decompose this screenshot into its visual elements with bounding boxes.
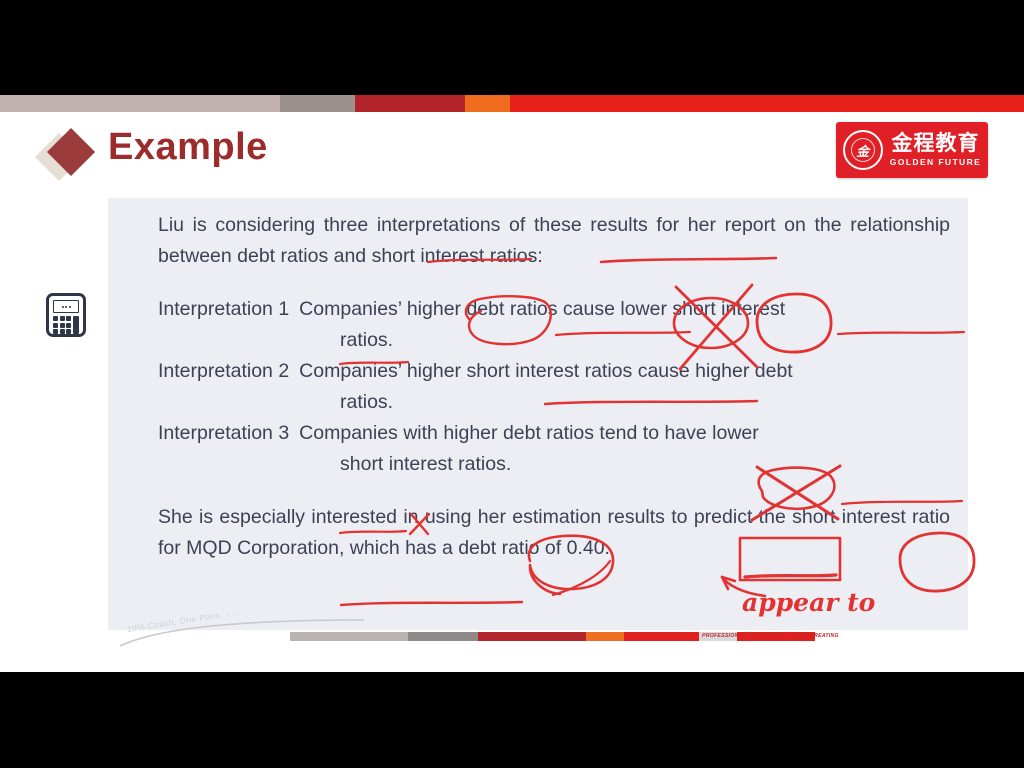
letterbox-top bbox=[0, 0, 1024, 95]
band-segment-3 bbox=[355, 95, 465, 112]
interpretation-1-line2: ratios. bbox=[158, 325, 950, 356]
slide-canvas: Example 金 金程教育 GOLDEN FUTURE bbox=[0, 95, 1024, 672]
interpretation-1-label: Interpretation 1 bbox=[158, 294, 289, 325]
intro-paragraph: Liu is considering three interpretations… bbox=[158, 210, 950, 272]
paragraph-spacer bbox=[158, 480, 950, 502]
letterbox-bottom bbox=[0, 672, 1024, 768]
footer-bar-segment-4 bbox=[586, 632, 624, 641]
interpretation-1-text: Companies’ higher debt ratios cause lowe… bbox=[299, 294, 950, 325]
calculator-key bbox=[66, 323, 71, 328]
logo-english-name: GOLDEN FUTURE bbox=[890, 158, 981, 167]
paragraph-spacer bbox=[158, 272, 950, 294]
band-segment-1 bbox=[0, 95, 280, 112]
logo-chinese-name: 金程教育 bbox=[892, 133, 980, 154]
logo-seal-mark: 金 bbox=[851, 138, 875, 162]
interpretation-2-label: Interpretation 2 bbox=[158, 356, 289, 387]
footer-bar-segment-1 bbox=[290, 632, 408, 641]
band-segment-2 bbox=[280, 95, 355, 112]
interpretation-1-line1: Interpretation 1 Companies’ higher debt … bbox=[158, 294, 950, 325]
diamond-bullet-icon bbox=[40, 130, 100, 182]
interpretation-3-line2: short interest ratios. bbox=[158, 449, 950, 480]
calculator-key bbox=[66, 329, 71, 334]
calculator-icon bbox=[46, 293, 86, 337]
calculator-key-grid bbox=[53, 316, 71, 334]
interpretation-2-line1: Interpretation 2 Companies’ higher short… bbox=[158, 356, 950, 387]
calculator-key bbox=[53, 329, 58, 334]
logo-seal-icon: 金 bbox=[843, 130, 883, 170]
calculator-enter-key bbox=[73, 316, 79, 334]
footer-color-bar: PROFESSIONAL · INNOVATIVE · VALUE CREATI… bbox=[290, 632, 815, 641]
footer-bar-segment-2 bbox=[408, 632, 478, 641]
slide-header: Example 金 金程教育 GOLDEN FUTURE bbox=[0, 112, 1024, 190]
calculator-screen-dot bbox=[65, 306, 67, 308]
calculator-keypad bbox=[53, 316, 79, 334]
brand-logo: 金 金程教育 GOLDEN FUTURE bbox=[836, 122, 988, 178]
interpretation-2-text: Companies’ higher short interest ratios … bbox=[299, 356, 950, 387]
calculator-screen bbox=[53, 300, 79, 313]
band-segment-5 bbox=[510, 95, 1024, 112]
interpretation-3-label: Interpretation 3 bbox=[158, 418, 289, 449]
logo-text-group: 金程教育 GOLDEN FUTURE bbox=[890, 133, 981, 167]
band-segment-4 bbox=[465, 95, 510, 112]
top-color-band bbox=[0, 95, 1024, 112]
content-body: Liu is considering three interpretations… bbox=[108, 198, 968, 564]
closing-paragraph: She is especially interested in using he… bbox=[158, 502, 950, 564]
calculator-screen-dot bbox=[69, 306, 71, 308]
calculator-key bbox=[53, 323, 58, 328]
calculator-key bbox=[60, 316, 65, 321]
interpretation-2-line2: ratios. bbox=[158, 387, 950, 418]
footer-bar-segment-5 bbox=[624, 632, 699, 641]
content-panel: Liu is considering three interpretations… bbox=[108, 198, 968, 630]
interpretation-3-line1: Interpretation 3 Companies with higher d… bbox=[158, 418, 950, 449]
calculator-key bbox=[66, 316, 71, 321]
slide-viewer: Example 金 金程教育 GOLDEN FUTURE bbox=[0, 0, 1024, 768]
calculator-key bbox=[60, 323, 65, 328]
interpretation-3: Interpretation 3 Companies with higher d… bbox=[158, 418, 950, 480]
interpretation-1: Interpretation 1 Companies’ higher debt … bbox=[158, 294, 950, 356]
interpretation-3-text: Companies with higher debt ratios tend t… bbox=[299, 418, 950, 449]
page-title: Example bbox=[108, 126, 268, 169]
calculator-key bbox=[60, 329, 65, 334]
interpretation-2: Interpretation 2 Companies’ higher short… bbox=[158, 356, 950, 418]
footer-tagline: PROFESSIONAL · INNOVATIVE · VALUE CREATI… bbox=[702, 632, 839, 641]
calculator-screen-dot bbox=[62, 306, 64, 308]
calculator-key bbox=[53, 316, 58, 321]
footer-swoosh: 10% Coach, One Point, Professional ! bbox=[118, 614, 368, 648]
footer-bar-tagline-holder: PROFESSIONAL · INNOVATIVE · VALUE CREATI… bbox=[699, 632, 737, 641]
footer-bar-segment-3 bbox=[478, 632, 586, 641]
